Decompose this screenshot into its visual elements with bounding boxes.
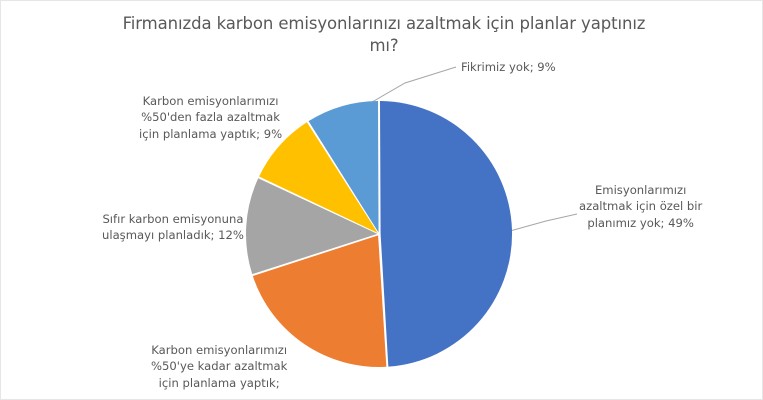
pie-slices: [246, 101, 512, 367]
pie-label-50-kadar-line-1: Karbon emisyonlarımızı: [151, 342, 287, 358]
pie-label-fikrimiz-yok: Fikrimiz yok; 9%: [461, 59, 556, 75]
pie-label-karbon-emisyonlarimizi-yuzde50den-fazla-azaltmak: Karbon emisyonlarımızı %50'den fazla aza…: [139, 93, 282, 142]
pie-label-sifir-karbon-line-2: ulaşmayı planladık; 12%: [102, 227, 244, 243]
pie-label-50-fazla-line-1: Karbon emisyonlarımızı: [139, 93, 282, 109]
pie-slice-emisyonlarimizi-azaltmak-icin-ozel-bir-planimiz-yok[interactable]: [380, 101, 512, 367]
pie-label-emisyon-plan-yok-line-1: Emisyonlarımızı: [579, 182, 702, 198]
pie-label-karbon-emisyonlarimizi-yuzde50ye-kadar-azaltmak: Karbon emisyonlarımızı %50'ye kadar azal…: [151, 342, 287, 391]
chart-canvas: Firmanızda karbon emisyonlarınızı azaltm…: [0, 0, 763, 400]
pie-label-50-fazla-line-3: için planlama yaptık; 9%: [139, 126, 282, 142]
pie-label-50-kadar-line-3: için planlama yaptık;: [151, 375, 287, 391]
pie-label-emisyon-plan-yok-line-2: azaltmak için özel bir: [579, 198, 702, 214]
pie-label-emisyon-plan-yok-line-3: planımız yok; 49%: [579, 215, 702, 231]
pie-label-emisyonlarimizi-azaltmak-icin-ozel-bir-planimiz-yok: Emisyonlarımızı azaltmak için özel bir p…: [579, 182, 702, 231]
leader-line-emisyon-plan-yok: [510, 214, 577, 231]
pie-label-50-kadar-line-2: %50'ye kadar azaltmak: [151, 358, 287, 374]
pie-label-sifir-karbon-line-1: Sıfır karbon emisyonuna: [102, 211, 244, 227]
pie-label-sifir-karbon-emisyonuna-ulasmayi-planladik: Sıfır karbon emisyonuna ulaşmayı planlad…: [102, 211, 244, 244]
pie-label-fikrimiz-yok-line-1: Fikrimiz yok; 9%: [461, 59, 556, 75]
pie-label-50-fazla-line-2: %50'den fazla azaltmak: [139, 109, 282, 125]
